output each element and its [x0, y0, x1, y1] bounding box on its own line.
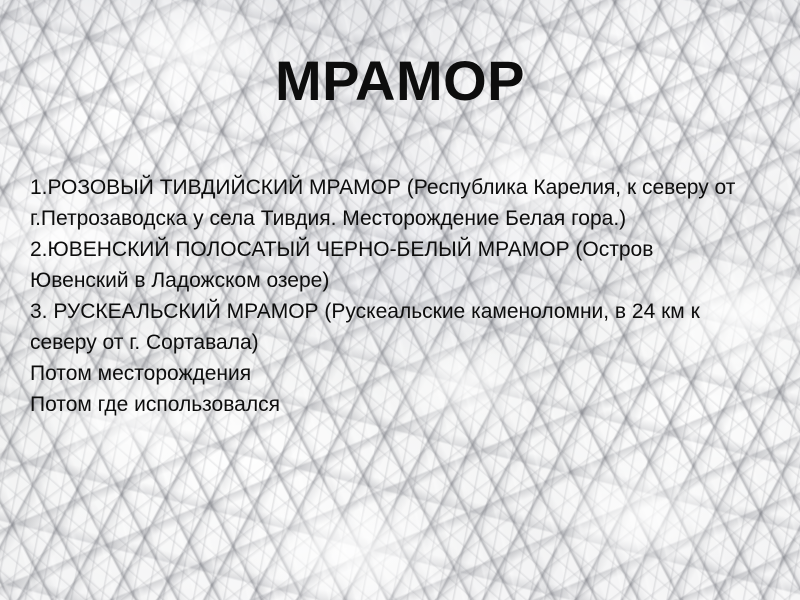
page-title: МРАМОР: [0, 52, 800, 111]
presentation-slide: МРАМОР 1.РОЗОВЫЙ ТИВДИЙСКИЙ МРАМОР (Респ…: [0, 0, 800, 600]
slide-content: МРАМОР 1.РОЗОВЫЙ ТИВДИЙСКИЙ МРАМОР (Респ…: [0, 0, 800, 600]
list-item: 2.ЮВЕНСКИЙ ПОЛОСАТЫЙ ЧЕРНО-БЕЛЫЙ МРАМОР …: [30, 234, 742, 296]
list-item: Потом месторождения: [30, 358, 742, 389]
list-item: Потом где использовался: [30, 389, 742, 420]
list-item: 1.РОЗОВЫЙ ТИВДИЙСКИЙ МРАМОР (Республика …: [30, 172, 742, 234]
list-item: 3. РУСКЕАЛЬСКИЙ МРАМОР (Рускеальские кам…: [30, 296, 742, 358]
slide-body-text: 1.РОЗОВЫЙ ТИВДИЙСКИЙ МРАМОР (Республика …: [30, 172, 742, 420]
